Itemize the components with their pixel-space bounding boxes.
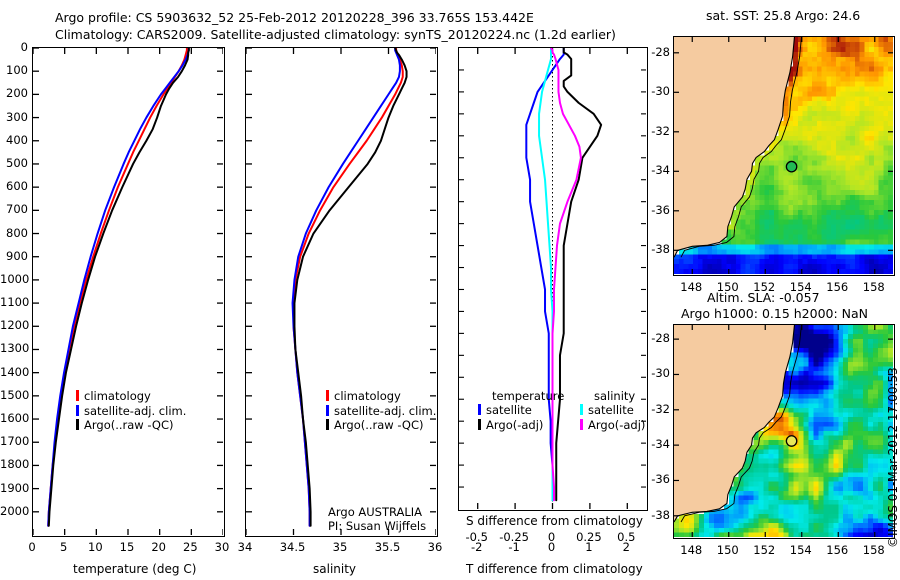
axis-tick-label: 35 xyxy=(320,540,360,554)
legend-item: satellite-adj. clim. xyxy=(326,404,436,419)
longitude-tick-label: 150 xyxy=(708,543,748,557)
longitude-tick-label: 152 xyxy=(744,543,784,557)
depth-tick-label: 1500 xyxy=(0,388,28,402)
depth-tick-label: 800 xyxy=(0,226,28,240)
legend-label: satellite xyxy=(486,403,532,417)
depth-tick-label: 300 xyxy=(0,110,28,124)
copyright-label: ©IMOS 01-Mar-2012 17:00:53 xyxy=(886,367,900,548)
depth-tick-label: 1900 xyxy=(0,481,28,495)
latitude-tick-label: -32 xyxy=(640,402,670,416)
temperature-legend: climatologysatellite-adj. clim.Argo(..ra… xyxy=(76,389,186,433)
latitude-tick-label: -30 xyxy=(640,366,670,380)
t-difference-axis-label: T difference from climatology xyxy=(466,562,643,576)
latitude-tick-label: -30 xyxy=(640,84,670,98)
longitude-tick-label: 156 xyxy=(817,543,857,557)
depth-tick-label: 700 xyxy=(0,202,28,216)
difference-legend-temperature: temperaturesatelliteArgo(-adj) xyxy=(478,389,564,432)
argo-australia-label: Argo AUSTRALIA xyxy=(328,505,422,519)
legend-swatch xyxy=(326,405,329,416)
temperature-axis-label: temperature (deg C) xyxy=(73,562,196,576)
depth-tick-label: 500 xyxy=(0,156,28,170)
depth-tick-label: 1300 xyxy=(0,341,28,355)
depth-tick-label: 100 xyxy=(0,63,28,77)
salinity-axis-label: salinity xyxy=(313,562,356,576)
legend-item: Argo(-adj) xyxy=(580,418,645,433)
sst-map-title: sat. SST: 25.8 Argo: 24.6 xyxy=(706,8,860,23)
legend-swatch xyxy=(478,419,481,430)
salinity-profile-plot xyxy=(246,48,436,535)
temperature-profile-panel xyxy=(32,47,225,537)
legend-item: climatology xyxy=(326,389,436,404)
axis-tick-label: 34 xyxy=(225,540,265,554)
depth-tick-label: 1700 xyxy=(0,434,28,448)
legend-swatch xyxy=(580,404,583,415)
latitude-tick-label: -38 xyxy=(640,508,670,522)
depth-tick-label: 600 xyxy=(0,179,28,193)
depth-tick-label: 1400 xyxy=(0,365,28,379)
legend-item: satellite xyxy=(580,403,645,418)
legend-swatch xyxy=(76,390,79,401)
salinity-profile-panel xyxy=(245,47,438,537)
legend-swatch xyxy=(580,419,583,430)
axis-tick-label: 34.5 xyxy=(273,540,313,554)
longitude-tick-label: 148 xyxy=(671,280,711,294)
sla-map-title-line1: Altim. SLA: -0.057 xyxy=(707,290,820,305)
t-diff-tick-label: -2 xyxy=(457,540,497,554)
sst-map xyxy=(674,37,893,274)
legend-label: satellite xyxy=(588,403,634,417)
latitude-tick-label: -28 xyxy=(640,331,670,345)
legend-label: Argo(-adj) xyxy=(588,418,645,432)
legend-swatch xyxy=(76,405,79,416)
legend-item: Argo(..raw -QC) xyxy=(326,418,436,433)
depth-tick-label: 2000 xyxy=(0,504,28,518)
legend-label: climatology xyxy=(84,389,151,403)
longitude-tick-label: 158 xyxy=(854,280,894,294)
legend-title: salinity xyxy=(594,389,645,403)
depth-tick-label: 1800 xyxy=(0,457,28,471)
t-diff-tick-label: -1 xyxy=(494,540,534,554)
temperature-profile-plot xyxy=(33,48,223,535)
depth-tick-label: 900 xyxy=(0,249,28,263)
legend-item: satellite-adj. clim. xyxy=(76,404,186,419)
depth-tick-label: 0 xyxy=(0,40,28,54)
longitude-tick-label: 156 xyxy=(817,280,857,294)
latitude-tick-label: -28 xyxy=(640,45,670,59)
sla-map-title-line2: Argo h1000: 0.15 h2000: NaN xyxy=(681,306,868,321)
legend-label: satellite-adj. clim. xyxy=(84,404,186,418)
legend-item: satellite xyxy=(478,403,564,418)
header-line-1: Argo profile: CS 5903632_52 25-Feb-2012 … xyxy=(55,10,534,25)
depth-tick-label: 400 xyxy=(0,133,28,147)
latitude-tick-label: -36 xyxy=(640,203,670,217)
legend-swatch xyxy=(478,404,481,415)
depth-tick-label: 1100 xyxy=(0,295,28,309)
salinity-legend: climatologysatellite-adj. clim.Argo(..ra… xyxy=(326,389,436,433)
difference-panel xyxy=(458,47,648,511)
t-diff-tick-label: 2 xyxy=(606,540,646,554)
header-line-2: Climatology: CARS2009. Satellite-adjuste… xyxy=(55,27,616,42)
longitude-tick-label: 154 xyxy=(781,543,821,557)
pi-label: PI: Susan Wijffels xyxy=(328,519,426,533)
legend-title: temperature xyxy=(492,389,564,403)
axis-tick-label: 36 xyxy=(415,540,455,554)
legend-label: Argo(-adj) xyxy=(486,418,543,432)
latitude-tick-label: -34 xyxy=(640,437,670,451)
legend-label: Argo(..raw -QC) xyxy=(334,418,424,432)
legend-item: climatology xyxy=(76,389,186,404)
sla-map-panel xyxy=(673,324,895,539)
legend-item: Argo(-adj) xyxy=(478,418,564,433)
longitude-tick-label: 148 xyxy=(671,543,711,557)
difference-legend-salinity: salinitysatelliteArgo(-adj) xyxy=(580,389,645,432)
t-diff-tick-label: 0 xyxy=(532,540,572,554)
difference-plot xyxy=(459,48,646,509)
depth-tick-label: 1600 xyxy=(0,411,28,425)
depth-tick-label: 200 xyxy=(0,86,28,100)
legend-label: satellite-adj. clim. xyxy=(334,404,436,418)
sla-map xyxy=(674,325,893,537)
legend-label: climatology xyxy=(334,389,401,403)
depth-tick-label: 1000 xyxy=(0,272,28,286)
legend-label: Argo(..raw -QC) xyxy=(84,418,174,432)
sst-map-panel xyxy=(673,36,895,276)
legend-swatch xyxy=(326,390,329,401)
legend-swatch xyxy=(76,419,79,430)
t-diff-tick-label: 1 xyxy=(569,540,609,554)
latitude-tick-label: -38 xyxy=(640,242,670,256)
legend-swatch xyxy=(326,419,329,430)
s-difference-axis-label: S difference from climatology xyxy=(466,514,643,528)
latitude-tick-label: -32 xyxy=(640,124,670,138)
depth-tick-label: 1200 xyxy=(0,318,28,332)
latitude-tick-label: -34 xyxy=(640,163,670,177)
latitude-tick-label: -36 xyxy=(640,472,670,486)
legend-item: Argo(..raw -QC) xyxy=(76,418,186,433)
axis-tick-label: 35.5 xyxy=(368,540,408,554)
